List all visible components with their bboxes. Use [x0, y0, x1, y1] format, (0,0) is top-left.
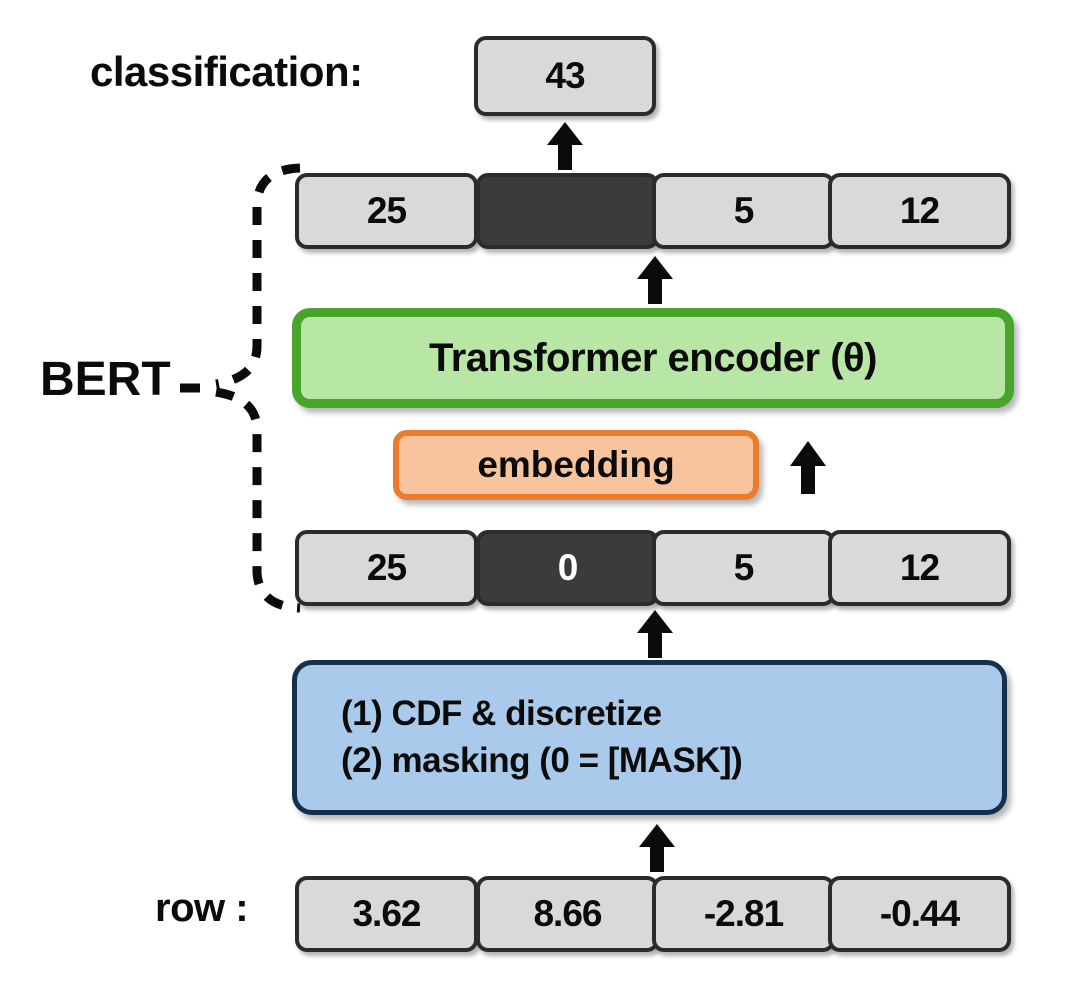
input-token-cell-3: 5: [652, 530, 835, 606]
input-token-cell-1: 25: [295, 530, 478, 606]
row-value-cell-3: -2.81: [652, 876, 835, 952]
transformer-encoder-label: Transformer encoder (θ): [429, 336, 877, 381]
up-arrow-icon: [783, 437, 833, 497]
embedding-box: embedding: [393, 430, 759, 500]
up-arrow-icon: [630, 608, 680, 660]
up-arrow-icon: [630, 252, 680, 306]
classification-output-cell: 43: [474, 36, 656, 116]
dashed-curly-brace-icon: [178, 160, 318, 620]
diagram-canvas: classification: 43 25 5 12 Transformer e…: [0, 0, 1080, 990]
input-token-cell-2-masked: 0: [476, 530, 659, 606]
row-value-cell-2: 8.66: [476, 876, 659, 952]
row-label: row :: [155, 886, 248, 931]
row-value-cell-4: -0.44: [828, 876, 1011, 952]
row-value-cell-1: 3.62: [295, 876, 478, 952]
preprocess-box: (1) CDF & discretize (2) masking (0 = [M…: [292, 660, 1007, 815]
embedding-label: embedding: [477, 444, 674, 486]
output-token-cell-2-masked: [476, 173, 659, 249]
bert-label: BERT: [40, 352, 171, 407]
up-arrow-icon: [540, 118, 590, 172]
output-token-cell-1: 25: [295, 173, 478, 249]
preprocess-line-1: (1) CDF & discretize: [341, 691, 662, 737]
output-token-cell-4: 12: [828, 173, 1011, 249]
output-token-cell-3: 5: [652, 173, 835, 249]
up-arrow-icon: [632, 822, 682, 874]
classification-label: classification:: [90, 48, 363, 96]
transformer-encoder-box: Transformer encoder (θ): [292, 308, 1014, 408]
input-token-cell-4: 12: [828, 530, 1011, 606]
preprocess-line-2: (2) masking (0 = [MASK]): [341, 738, 742, 784]
